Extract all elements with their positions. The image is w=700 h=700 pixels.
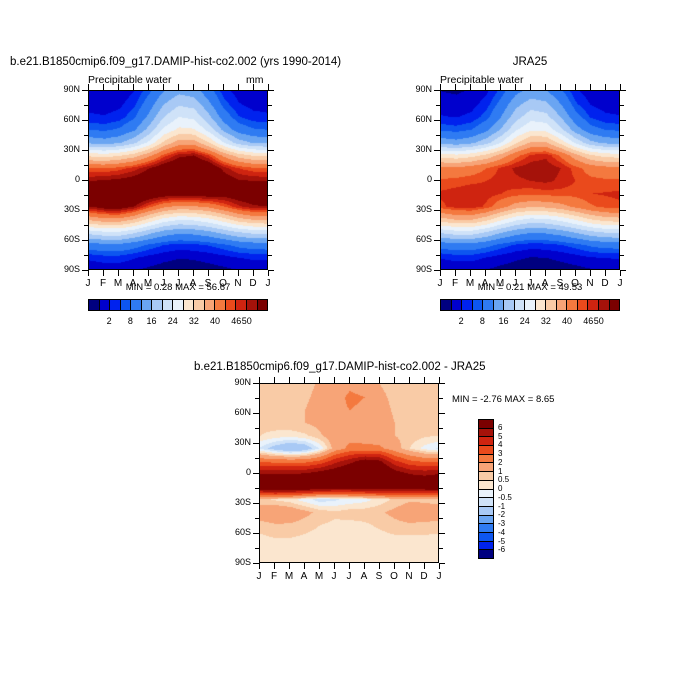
y-tick-label: 30S <box>217 497 251 507</box>
x-tick-bottom <box>364 563 365 569</box>
y-tick-label: 90N <box>46 84 80 94</box>
colorbar-swatch <box>479 489 493 498</box>
x-tick-bottom <box>88 270 89 276</box>
colorbar-swatch <box>479 541 493 550</box>
y-tick <box>253 443 259 444</box>
colorbar-tick-label: -4 <box>498 528 505 537</box>
x-tick-bottom <box>334 563 335 569</box>
colorbar-swatch <box>204 300 215 310</box>
colorbar-swatch <box>225 300 236 310</box>
x-tick-bottom <box>605 270 606 276</box>
colorbar-swatch <box>609 300 620 310</box>
colorbar-swatch <box>451 300 462 310</box>
colorbar-tick-label: 32 <box>535 316 557 326</box>
y-minor-tick <box>84 195 88 196</box>
y-tick-label: 90N <box>398 84 432 94</box>
y-tick <box>434 150 440 151</box>
colorbar-tick-label: -1 <box>498 502 505 511</box>
colorbar-tick-label: 24 <box>514 316 536 326</box>
y-minor-tick <box>268 225 272 226</box>
x-tick-top <box>500 84 501 90</box>
y-tick-label: 30S <box>398 204 432 214</box>
y-tick <box>253 413 259 414</box>
x-tick-top <box>163 84 164 90</box>
colorbar-swatch <box>246 300 257 310</box>
y-tick-label: 0 <box>217 467 251 477</box>
y-tick <box>82 150 88 151</box>
x-tick-bottom <box>238 270 239 276</box>
colorbar-swatch <box>556 300 567 310</box>
colorbar-swatch <box>214 300 225 310</box>
y-tick-label: 60N <box>217 407 251 417</box>
colorbar-tick-label: 40 <box>204 316 226 326</box>
colorbar-swatch <box>461 300 472 310</box>
x-tick-bottom <box>379 563 380 569</box>
y-tick-right <box>620 180 626 181</box>
x-tick-bottom <box>515 270 516 276</box>
obs-panel-title: JRA25 <box>440 56 620 68</box>
y-tick <box>82 90 88 91</box>
y-tick-label: 0 <box>398 174 432 184</box>
diff-minmax-label: MIN = -2.76 MAX = 8.65 <box>452 394 554 405</box>
y-minor-tick <box>436 105 440 106</box>
x-tick-top <box>118 84 119 90</box>
colorbar-swatch <box>479 506 493 515</box>
obs-minmax-label: MIN = 0.21 MAX = 49.53 <box>440 282 620 293</box>
model-minmax-label: MIN = 0.28 MAX = 56.67 <box>88 282 268 293</box>
y-tick-label: 30N <box>398 144 432 154</box>
colorbar-tick-label: 2 <box>98 316 120 326</box>
y-minor-tick <box>255 458 259 459</box>
x-tick-bottom <box>208 270 209 276</box>
colorbar-tick-label: 16 <box>141 316 163 326</box>
colorbar-tick-label: -3 <box>498 519 505 528</box>
x-tick-top <box>424 377 425 383</box>
x-tick-bottom <box>118 270 119 276</box>
x-tick-bottom <box>163 270 164 276</box>
y-tick-right <box>268 180 274 181</box>
colorbar-swatch <box>479 454 493 463</box>
x-tick-top <box>223 84 224 90</box>
model-units-label: mm <box>246 74 264 86</box>
colorbar-tick-label: 4 <box>498 440 502 449</box>
y-minor-tick <box>439 548 443 549</box>
model-panel-title: b.e21.B1850cmip6.f09_g17.DAMIP-hist-co2.… <box>10 56 341 68</box>
x-tick-bottom <box>103 270 104 276</box>
y-minor-tick <box>436 225 440 226</box>
x-tick-bottom <box>620 270 621 276</box>
x-tick-top <box>409 377 410 383</box>
y-tick <box>434 240 440 241</box>
colorbar-swatch <box>172 300 183 310</box>
colorbar-swatch <box>503 300 514 310</box>
y-tick <box>82 120 88 121</box>
y-minor-tick <box>620 255 624 256</box>
x-tick-top <box>560 84 561 90</box>
y-tick-right <box>439 503 445 504</box>
y-minor-tick <box>436 195 440 196</box>
x-tick-top <box>605 84 606 90</box>
colorbar-swatch <box>99 300 110 310</box>
y-tick-right <box>268 120 274 121</box>
colorbar-swatch <box>535 300 546 310</box>
y-tick-right <box>620 240 626 241</box>
x-tick-bottom <box>530 270 531 276</box>
x-tick-bottom <box>268 270 269 276</box>
y-tick-label: 60S <box>217 527 251 537</box>
x-tick-top <box>364 377 365 383</box>
colorbar-swatch <box>587 300 598 310</box>
y-tick-right <box>620 90 626 91</box>
colorbar-swatch <box>479 462 493 471</box>
y-tick <box>82 180 88 181</box>
colorbar-tick-label: 50 <box>588 316 610 326</box>
y-minor-tick <box>439 458 443 459</box>
colorbar-swatch <box>479 471 493 480</box>
colorbar-tick-label: 0 <box>498 484 502 493</box>
colorbar-tick-label: 16 <box>493 316 515 326</box>
colorbar-tick-label: -0.5 <box>498 493 512 502</box>
x-tick-top <box>259 377 260 383</box>
x-tick-bottom <box>223 270 224 276</box>
y-tick-label: 60N <box>46 114 80 124</box>
colorbar-tick-label: 1 <box>498 467 502 476</box>
x-tick-top <box>575 84 576 90</box>
x-tick-top <box>88 84 89 90</box>
colorbar-swatch <box>479 549 493 558</box>
colorbar-swatch <box>514 300 525 310</box>
x-tick-top <box>238 84 239 90</box>
x-tick-top <box>440 84 441 90</box>
colorbar-tick-label: 40 <box>556 316 578 326</box>
x-tick-bottom <box>439 563 440 569</box>
y-minor-tick <box>620 165 624 166</box>
y-minor-tick <box>255 398 259 399</box>
colorbar-swatch <box>472 300 483 310</box>
diff-contour-plot[interactable] <box>259 383 439 563</box>
y-tick-label: 90S <box>217 557 251 567</box>
colorbar-swatch <box>479 532 493 541</box>
colorbar-swatch <box>235 300 246 310</box>
colorbar-tick-label: 8 <box>471 316 493 326</box>
y-tick-label: 90S <box>398 264 432 274</box>
y-minor-tick <box>620 195 624 196</box>
colorbar-tick-label: -5 <box>498 537 505 546</box>
colorbar-swatch <box>120 300 131 310</box>
model-field-label: Precipitable water <box>88 74 171 86</box>
colorbar-swatch <box>479 420 493 428</box>
colorbar-swatch <box>479 428 493 437</box>
colorbar-swatch <box>493 300 504 310</box>
x-tick-bottom <box>304 563 305 569</box>
colorbar-swatch <box>257 300 268 310</box>
y-tick <box>253 473 259 474</box>
y-minor-tick <box>439 428 443 429</box>
obs-contour-canvas <box>441 91 620 270</box>
x-tick-bottom <box>253 270 254 276</box>
y-minor-tick <box>255 488 259 489</box>
y-minor-tick <box>255 548 259 549</box>
y-minor-tick <box>620 105 624 106</box>
obs-colorbar[interactable] <box>440 299 620 311</box>
colorbar-swatch <box>141 300 152 310</box>
y-tick-right <box>439 383 445 384</box>
y-minor-tick <box>268 255 272 256</box>
y-tick-right <box>268 240 274 241</box>
colorbar-swatch <box>130 300 141 310</box>
x-tick-top <box>590 84 591 90</box>
x-tick-top <box>439 377 440 383</box>
y-minor-tick <box>439 518 443 519</box>
x-tick-label: J <box>430 571 448 582</box>
x-tick-bottom <box>545 270 546 276</box>
x-tick-bottom <box>274 563 275 569</box>
colorbar-tick-label: 24 <box>162 316 184 326</box>
colorbar-tick-label: 3 <box>498 449 502 458</box>
y-tick <box>82 210 88 211</box>
y-tick-label: 30S <box>46 204 80 214</box>
diff-colorbar[interactable] <box>478 419 494 559</box>
colorbar-swatch <box>479 436 493 445</box>
obs-contour-plot[interactable] <box>440 90 620 270</box>
y-tick-right <box>439 443 445 444</box>
x-tick-top <box>274 377 275 383</box>
x-tick-top <box>253 84 254 90</box>
y-tick-right <box>620 120 626 121</box>
x-tick-top <box>289 377 290 383</box>
x-tick-top <box>208 84 209 90</box>
y-minor-tick <box>268 105 272 106</box>
y-tick-label: 60N <box>398 114 432 124</box>
y-tick <box>253 503 259 504</box>
colorbar-tick-label: 32 <box>183 316 205 326</box>
y-tick <box>434 120 440 121</box>
x-tick-bottom <box>409 563 410 569</box>
colorbar-swatch <box>162 300 173 310</box>
y-minor-tick <box>436 255 440 256</box>
y-minor-tick <box>255 428 259 429</box>
y-minor-tick <box>255 518 259 519</box>
colorbar-tick-label: 2 <box>498 458 502 467</box>
x-tick-top <box>148 84 149 90</box>
x-tick-top <box>133 84 134 90</box>
y-minor-tick <box>84 165 88 166</box>
obs-field-label: Precipitable water <box>440 74 523 86</box>
y-minor-tick <box>84 105 88 106</box>
x-tick-top <box>304 377 305 383</box>
x-tick-bottom <box>178 270 179 276</box>
x-tick-bottom <box>319 563 320 569</box>
y-tick <box>434 210 440 211</box>
x-tick-bottom <box>470 270 471 276</box>
model-contour-plot[interactable] <box>88 90 268 270</box>
x-tick-top <box>319 377 320 383</box>
colorbar-swatch <box>109 300 120 310</box>
x-tick-bottom <box>560 270 561 276</box>
y-tick-right <box>268 90 274 91</box>
colorbar-swatch <box>524 300 535 310</box>
x-tick-bottom <box>193 270 194 276</box>
colorbar-tick-label: 6 <box>498 423 502 432</box>
y-tick-right <box>439 473 445 474</box>
y-minor-tick <box>84 255 88 256</box>
y-tick-right <box>620 150 626 151</box>
y-tick <box>434 180 440 181</box>
x-tick-bottom <box>394 563 395 569</box>
y-tick-label: 90N <box>217 377 251 387</box>
x-tick-top <box>485 84 486 90</box>
x-tick-bottom <box>148 270 149 276</box>
y-tick-label: 60S <box>46 234 80 244</box>
colorbar-swatch <box>545 300 556 310</box>
colorbar-swatch <box>479 497 493 506</box>
colorbar-tick-label: 8 <box>119 316 141 326</box>
x-tick-top <box>349 377 350 383</box>
y-minor-tick <box>436 135 440 136</box>
y-minor-tick <box>436 165 440 166</box>
y-tick <box>253 383 259 384</box>
x-tick-bottom <box>133 270 134 276</box>
y-minor-tick <box>439 488 443 489</box>
y-tick-label: 60S <box>398 234 432 244</box>
colorbar-tick-label: 50 <box>236 316 258 326</box>
x-tick-top <box>103 84 104 90</box>
x-tick-top <box>268 84 269 90</box>
x-tick-bottom <box>575 270 576 276</box>
y-tick-right <box>439 413 445 414</box>
y-tick-right <box>268 150 274 151</box>
x-tick-top <box>620 84 621 90</box>
x-tick-top <box>515 84 516 90</box>
y-minor-tick <box>439 398 443 399</box>
x-tick-top <box>455 84 456 90</box>
colorbar-tick-label: -6 <box>498 545 505 554</box>
colorbar-tick-label: 5 <box>498 432 502 441</box>
y-minor-tick <box>268 195 272 196</box>
y-minor-tick <box>84 225 88 226</box>
y-tick <box>434 90 440 91</box>
x-tick-bottom <box>500 270 501 276</box>
x-tick-bottom <box>590 270 591 276</box>
colorbar-tick-label: 0.5 <box>498 475 509 484</box>
y-minor-tick <box>84 135 88 136</box>
y-tick <box>253 533 259 534</box>
y-tick-label: 90S <box>46 264 80 274</box>
x-tick-top <box>394 377 395 383</box>
y-tick-label: 30N <box>217 437 251 447</box>
y-minor-tick <box>620 225 624 226</box>
x-tick-top <box>178 84 179 90</box>
x-tick-bottom <box>440 270 441 276</box>
colorbar-swatch <box>479 445 493 454</box>
x-tick-bottom <box>485 270 486 276</box>
y-tick-label: 0 <box>46 174 80 184</box>
colorbar-swatch <box>566 300 577 310</box>
colorbar-swatch <box>151 300 162 310</box>
x-tick-top <box>379 377 380 383</box>
x-tick-top <box>470 84 471 90</box>
y-tick <box>82 240 88 241</box>
colorbar-swatch <box>479 523 493 532</box>
colorbar-swatch <box>441 300 451 310</box>
colorbar-swatch <box>482 300 493 310</box>
y-tick-right <box>620 210 626 211</box>
colorbar-swatch <box>89 300 99 310</box>
y-minor-tick <box>268 135 272 136</box>
colorbar-swatch <box>193 300 204 310</box>
x-tick-top <box>334 377 335 383</box>
x-tick-top <box>530 84 531 90</box>
diff-contour-canvas <box>260 384 439 563</box>
y-tick-right <box>268 210 274 211</box>
y-tick-right <box>439 533 445 534</box>
model-contour-canvas <box>89 91 268 270</box>
x-tick-bottom <box>349 563 350 569</box>
colorbar-swatch <box>598 300 609 310</box>
colorbar-tick-label: -2 <box>498 510 505 519</box>
colorbar-swatch <box>577 300 588 310</box>
x-tick-top <box>193 84 194 90</box>
colorbar-swatch <box>479 515 493 524</box>
y-minor-tick <box>620 135 624 136</box>
colorbar-tick-label: 2 <box>450 316 472 326</box>
y-tick-label: 30N <box>46 144 80 154</box>
colorbar-swatch <box>183 300 194 310</box>
model-colorbar[interactable] <box>88 299 268 311</box>
x-tick-bottom <box>289 563 290 569</box>
diff-panel-title: b.e21.B1850cmip6.f09_g17.DAMIP-hist-co2.… <box>194 361 486 373</box>
x-tick-bottom <box>455 270 456 276</box>
y-minor-tick <box>268 165 272 166</box>
x-tick-top <box>545 84 546 90</box>
colorbar-swatch <box>479 480 493 489</box>
x-tick-bottom <box>259 563 260 569</box>
x-tick-bottom <box>424 563 425 569</box>
